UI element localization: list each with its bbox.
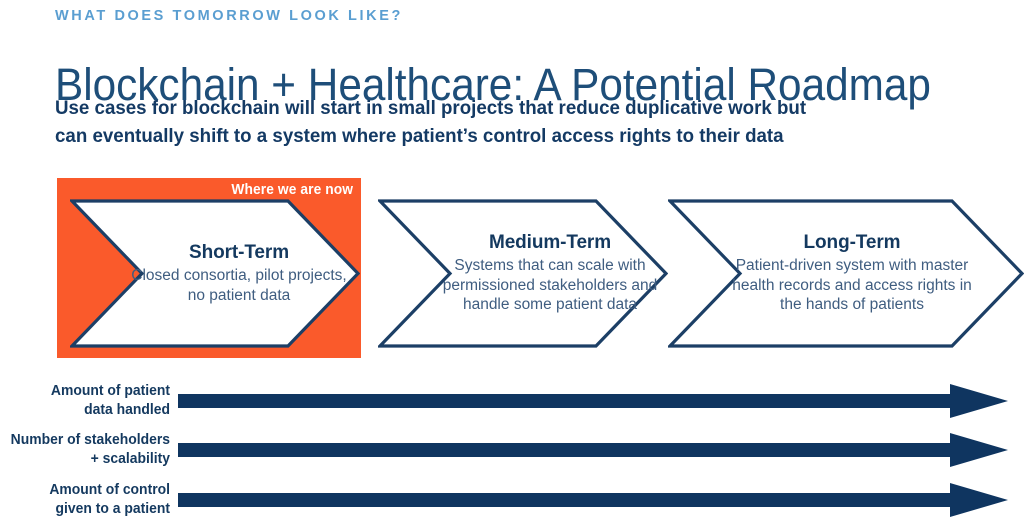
subtitle-line-1: Use cases for blockchain will start in s… <box>55 95 900 123</box>
metric-label-patient-data: Amount of patient data handled <box>7 382 170 419</box>
right-arrow-icon <box>178 433 1008 467</box>
metric-label-stakeholders: Number of stakeholders + scalability <box>7 431 170 468</box>
metric-row: Amount of control given to a patient <box>0 476 1024 524</box>
metric-label-line-2: given to a patient <box>7 500 170 519</box>
metric-row: Amount of patient data handled <box>0 377 1024 425</box>
metric-row: Number of stakeholders + scalability <box>0 426 1024 474</box>
metric-label-patient-control: Amount of control given to a patient <box>7 481 170 518</box>
roadmap-diagram: Where we are now Short-Term Closed conso… <box>0 175 1024 365</box>
metric-label-line-1: Amount of patient <box>7 382 170 401</box>
page-subtitle: Use cases for blockchain will start in s… <box>55 95 900 150</box>
subtitle-line-2: can eventually shift to a system where p… <box>55 123 900 151</box>
roadmap-stage-long-term[interactable]: Long-Term Patient-driven system with mas… <box>668 199 1024 348</box>
right-arrow-icon <box>178 384 1008 418</box>
metric-label-line-1: Amount of control <box>7 481 170 500</box>
right-arrow-icon <box>178 483 1008 517</box>
metric-label-line-1: Number of stakeholders <box>7 431 170 450</box>
chevron-shape-icon <box>378 199 668 348</box>
roadmap-stage-medium-term[interactable]: Medium-Term Systems that can scale with … <box>378 199 668 348</box>
where-we-are-now-label: Where we are now <box>231 182 353 198</box>
metric-label-line-2: + scalability <box>7 450 170 469</box>
chevron-shape-icon <box>668 199 1024 348</box>
metric-arrows-group: Amount of patient data handled Number of… <box>0 375 1024 526</box>
metric-label-line-2: data handled <box>7 401 170 420</box>
kicker-eyebrow-text: WHAT DOES TOMORROW LOOK LIKE? <box>55 8 403 24</box>
roadmap-stage-short-term[interactable]: Short-Term Closed consortia, pilot proje… <box>70 199 360 348</box>
chevron-shape-icon <box>70 199 360 348</box>
